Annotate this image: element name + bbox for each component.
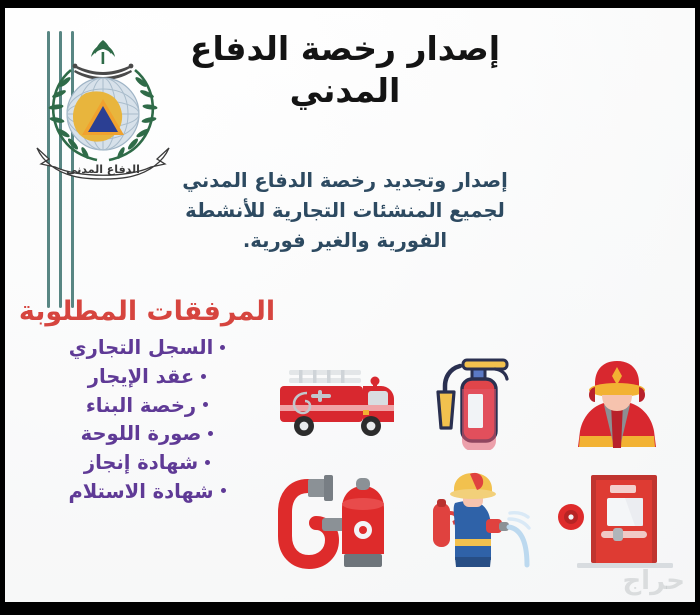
saudi-civil-defense-emblem: الدفاع المدني <box>23 30 183 185</box>
list-item: السجل التجاري <box>13 334 281 363</box>
emblem-ribbon-text: الدفاع المدني <box>66 163 140 176</box>
page-subtitle: إصدار وتجديد رخصة الدفاع المدني لجميع ال… <box>180 166 510 257</box>
page-title: إصدار رخصة الدفاع المدني <box>180 28 510 112</box>
bullet-icon <box>205 460 210 465</box>
list-item-label: رخصة البناء <box>86 394 196 417</box>
list-item: عقد الإيجار <box>13 363 281 392</box>
list-item: صورة اللوحة <box>13 420 281 449</box>
illustration-grid <box>267 333 687 583</box>
attachments-heading: المرفقات المطلوبة <box>13 296 281 328</box>
fire-hydrant-icon <box>267 458 407 583</box>
globe-icon <box>67 78 139 150</box>
fire-truck-icon <box>267 333 407 458</box>
attachments-list: السجل التجاري عقد الإيجار رخصة البناء صو… <box>13 334 281 506</box>
bullet-icon <box>208 431 213 436</box>
list-item-label: شهادة إنجاز <box>84 451 198 474</box>
list-item: رخصة البناء <box>13 392 281 421</box>
firefighter-hose-icon <box>407 458 547 583</box>
fire-exit-door-icon <box>547 458 687 583</box>
list-item-label: صورة اللوحة <box>81 422 202 445</box>
bullet-icon <box>220 345 225 350</box>
attachments-panel: المرفقات المطلوبة السجل التجاري عقد الإي… <box>13 296 281 506</box>
poster-canvas: إصدار رخصة الدفاع المدني إصدار وتجديد رخ… <box>5 8 695 602</box>
fire-extinguisher-icon <box>407 333 547 458</box>
bullet-icon <box>203 402 208 407</box>
list-item-label: شهادة الاستلام <box>68 480 213 503</box>
bullet-icon <box>221 488 226 493</box>
list-item-label: السجل التجاري <box>69 336 214 359</box>
list-item-label: عقد الإيجار <box>88 365 195 388</box>
list-item: شهادة الاستلام <box>13 478 281 507</box>
palm-and-swords-icon <box>73 40 134 80</box>
poster-frame: إصدار رخصة الدفاع المدني إصدار وتجديد رخ… <box>0 0 700 615</box>
firefighter-icon <box>547 333 687 458</box>
emblem-ribbon: الدفاع المدني <box>37 148 169 179</box>
watermark: حراج <box>622 566 685 596</box>
bullet-icon <box>201 374 206 379</box>
list-item: شهادة إنجاز <box>13 449 281 478</box>
